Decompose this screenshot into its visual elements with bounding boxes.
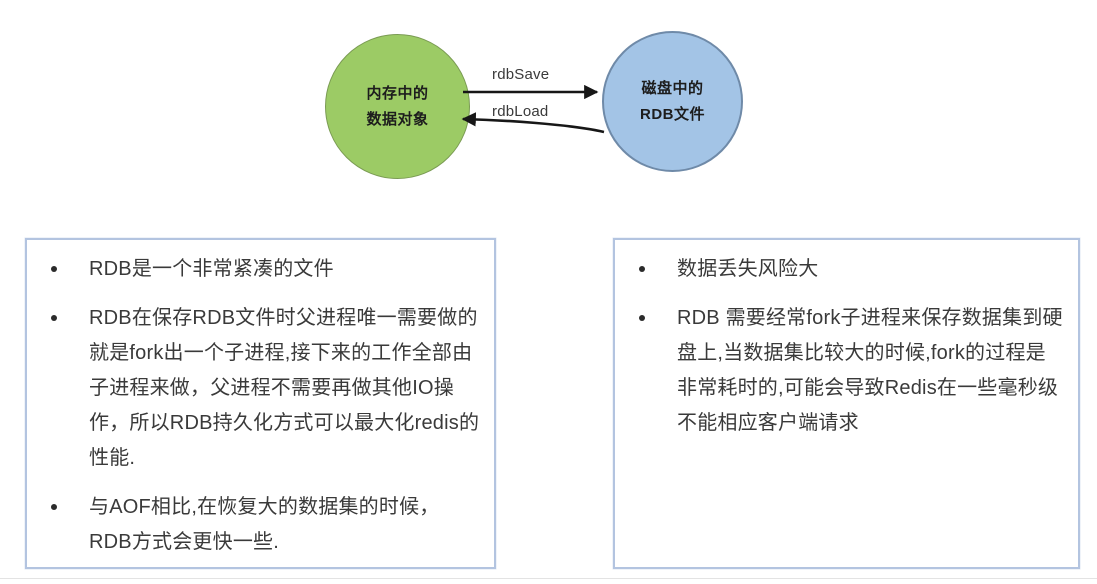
list-item: RDB是一个非常紧凑的文件 [49,252,480,287]
edge-label-rdbsave: rdbSave [492,66,549,83]
diagram-edges [0,0,1097,200]
list-item-text: 数据丢失风险大 [677,252,1064,287]
diagram-node-disk: 磁盘中的 RDB文件 [602,31,743,172]
node-disk-label-line2: RDB文件 [640,102,705,128]
bullet-dot-icon [51,315,57,321]
advantages-bullet-list: RDB是一个非常紧凑的文件 RDB在保存RDB文件时父进程唯一需要做的就是for… [27,240,494,560]
disadvantages-panel: 数据丢失风险大 RDB 需要经常fork子进程来保存数据集到硬盘上,当数据集比较… [613,238,1080,569]
list-item: RDB在保存RDB文件时父进程唯一需要做的就是fork出一个子进程,接下来的工作… [49,301,480,476]
bullet-dot-icon [51,266,57,272]
bottom-divider [0,578,1097,579]
list-item: 与AOF相比,在恢复大的数据集的时候，RDB方式会更快一些. [49,490,480,560]
advantages-panel: RDB是一个非常紧凑的文件 RDB在保存RDB文件时父进程唯一需要做的就是for… [25,238,496,569]
list-item: 数据丢失风险大 [637,252,1064,287]
node-disk-label-line1: 磁盘中的 [641,76,703,102]
diagram-node-memory: 内存中的 数据对象 [325,34,470,179]
node-memory-label-line1: 内存中的 [366,81,428,107]
list-item: RDB 需要经常fork子进程来保存数据集到硬盘上,当数据集比较大的时候,for… [637,301,1064,441]
bullet-dot-icon [639,315,645,321]
node-memory-label-line2: 数据对象 [366,107,428,133]
rdb-persistence-diagram: 内存中的 数据对象 磁盘中的 RDB文件 rdbSave rdbLoad [0,0,1097,200]
edge-rdbload-arrow [463,119,604,132]
bullet-dot-icon [51,504,57,510]
bullet-dot-icon [639,266,645,272]
edge-label-rdbload: rdbLoad [492,103,548,120]
disadvantages-bullet-list: 数据丢失风险大 RDB 需要经常fork子进程来保存数据集到硬盘上,当数据集比较… [615,240,1078,441]
list-item-text: 与AOF相比,在恢复大的数据集的时候，RDB方式会更快一些. [89,490,480,560]
list-item-text: RDB在保存RDB文件时父进程唯一需要做的就是fork出一个子进程,接下来的工作… [89,301,480,476]
list-item-text: RDB是一个非常紧凑的文件 [89,252,480,287]
list-item-text: RDB 需要经常fork子进程来保存数据集到硬盘上,当数据集比较大的时候,for… [677,301,1064,441]
